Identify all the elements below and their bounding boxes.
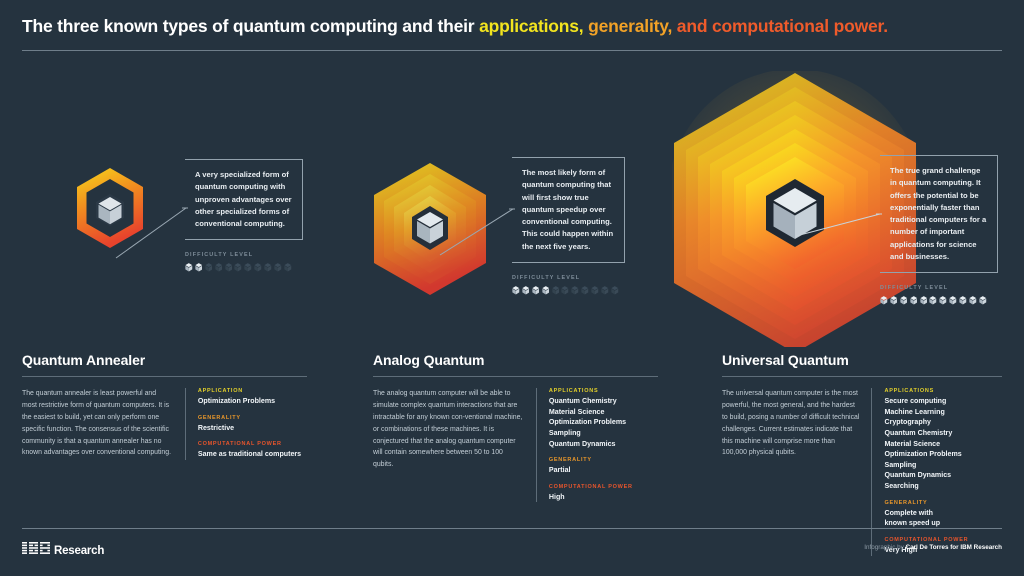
spec-computational-power: COMPUTATIONAL POWERSame as traditional c… <box>198 441 307 460</box>
difficulty-cube-icon <box>195 263 203 272</box>
title-accent-applications: applications, <box>479 16 583 36</box>
spec-value-line: High <box>549 492 658 503</box>
section-description: The quantum annealer is least powerful a… <box>22 388 173 460</box>
footer: Research Infographic by Carl De Torres f… <box>0 528 1024 576</box>
difficulty-cube-icon <box>611 286 619 295</box>
spec-label: APPLICATIONS <box>884 388 1002 394</box>
difficulty-cube-icon <box>601 286 609 295</box>
section-divider <box>722 376 1002 377</box>
difficulty-cube-icon <box>244 263 252 272</box>
credit-line: Infographic by Carl De Torres for IBM Re… <box>864 544 1002 551</box>
spec-label: GENERALITY <box>549 457 658 463</box>
spec-value-line: Optimization Problems <box>549 417 658 428</box>
spec-value: Complete withknown speed up <box>884 508 1002 529</box>
credit-author: Carl De Torres for IBM Research <box>906 544 1002 551</box>
difficulty-cube-icon <box>225 263 233 272</box>
section-analog-quantum: Analog Quantum The analog quantum comput… <box>373 352 658 502</box>
column-divider <box>185 388 186 460</box>
difficulty-label: DIFFICULTY LEVEL <box>185 252 303 258</box>
spec-value-line: Material Science <box>884 439 1002 450</box>
column-divider <box>536 388 537 502</box>
difficulty-cube-icon <box>920 296 928 305</box>
ibm-research-logo: Research <box>22 542 104 557</box>
spec-value-line: Searching <box>884 481 1002 492</box>
difficulty-cube-icon <box>522 286 530 295</box>
callout-universal-quantum: The true grand challenge in quantum comp… <box>880 155 998 305</box>
spec-value-line: Sampling <box>884 460 1002 471</box>
difficulty-cube-icon <box>205 263 213 272</box>
spec-generality: GENERALITYRestrictive <box>198 415 307 434</box>
spec-label: COMPUTATIONAL POWER <box>198 441 307 447</box>
spec-label: COMPUTATIONAL POWER <box>549 484 658 490</box>
difficulty-cube-icon <box>959 296 967 305</box>
spec-value: High <box>549 492 658 503</box>
callout-quantum-annealer: A very specialized form of quantum compu… <box>185 159 303 272</box>
callout-box: The true grand challenge in quantum comp… <box>880 155 998 273</box>
difficulty-cube-icon <box>542 286 550 295</box>
section-title: Quantum Annealer <box>22 352 307 368</box>
difficulty-label: DIFFICULTY LEVEL <box>880 285 998 291</box>
spec-value-line: Same as traditional computers <box>198 449 307 460</box>
difficulty-cube-icon <box>939 296 947 305</box>
difficulty-meter: DIFFICULTY LEVEL <box>880 285 998 305</box>
spec-label: APPLICATION <box>198 388 307 394</box>
section-specs: APPLICATIONSQuantum ChemistryMaterial Sc… <box>549 388 658 502</box>
section-title: Analog Quantum <box>373 352 658 368</box>
callout-box: The most likely form of quantum computin… <box>512 157 625 263</box>
credit-prefix: Infographic by <box>864 544 905 551</box>
spec-value-line: Machine Learning <box>884 407 1002 418</box>
callout-text: A very specialized form of quantum compu… <box>195 169 292 230</box>
section-quantum-annealer: Quantum Annealer The quantum annealer is… <box>22 352 307 460</box>
difficulty-cube-icon <box>254 263 262 272</box>
title-accent-generality: generality, <box>583 16 672 36</box>
spec-value-line: Cryptography <box>884 417 1002 428</box>
spec-value: Same as traditional computers <box>198 449 307 460</box>
spec-value-line: Quantum Chemistry <box>884 428 1002 439</box>
difficulty-cube-icon <box>890 296 898 305</box>
title-accent-power: and computational power. <box>672 16 888 36</box>
header: The three known types of quantum computi… <box>0 0 1024 62</box>
difficulty-cube-icon <box>264 263 272 272</box>
spec-value-line: Optimization Problems <box>198 396 307 407</box>
difficulty-cube-icon <box>215 263 223 272</box>
difficulty-cube-icon <box>234 263 242 272</box>
spec-label: GENERALITY <box>198 415 307 421</box>
spec-value-line: Quantum Dynamics <box>884 470 1002 481</box>
callout-text: The most likely form of quantum computin… <box>522 167 614 253</box>
difficulty-cube-icon <box>910 296 918 305</box>
leader-line-universal <box>796 212 882 236</box>
spec-value-line: Material Science <box>549 407 658 418</box>
section-specs: APPLICATIONOptimization ProblemsGENERALI… <box>198 388 307 460</box>
section-divider <box>373 376 658 377</box>
spec-value: Quantum ChemistryMaterial ScienceOptimiz… <box>549 396 658 449</box>
section-universal-quantum: Universal Quantum The universal quantum … <box>722 352 1002 556</box>
difficulty-cube-icon <box>581 286 589 295</box>
difficulty-label: DIFFICULTY LEVEL <box>512 275 625 281</box>
spec-value-line: Quantum Chemistry <box>549 396 658 407</box>
spec-value-line: Optimization Problems <box>884 449 1002 460</box>
sections-area: Quantum Annealer The quantum annealer is… <box>0 352 1024 522</box>
page-title: The three known types of quantum computi… <box>22 16 888 37</box>
spec-applications: APPLICATIONSSecure computingMachine Lear… <box>884 388 1002 492</box>
difficulty-cube-icon <box>512 286 520 295</box>
spec-generality: GENERALITYComplete withknown speed up <box>884 500 1002 529</box>
spec-value-line: Complete with <box>884 508 1002 519</box>
difficulty-cube-icon <box>979 296 987 305</box>
difficulty-meter: DIFFICULTY LEVEL <box>512 275 625 295</box>
section-description: The analog quantum computer will be able… <box>373 388 524 502</box>
section-divider <box>22 376 307 377</box>
difficulty-cubes <box>185 263 303 272</box>
spec-value: Secure computingMachine LearningCryptogr… <box>884 396 1002 492</box>
callout-box: A very specialized form of quantum compu… <box>185 159 303 240</box>
ibm-logo-icon <box>22 542 50 554</box>
leader-line-analog <box>440 207 515 255</box>
difficulty-cubes <box>512 286 625 295</box>
spec-value-line: Partial <box>549 465 658 476</box>
difficulty-cube-icon <box>900 296 908 305</box>
difficulty-cube-icon <box>532 286 540 295</box>
difficulty-cube-icon <box>561 286 569 295</box>
spec-value-line: Sampling <box>549 428 658 439</box>
spec-value: Optimization Problems <box>198 396 307 407</box>
difficulty-cube-icon <box>929 296 937 305</box>
spec-label: APPLICATIONS <box>549 388 658 394</box>
spec-value: Restrictive <box>198 423 307 434</box>
ibm-research-wordmark: Research <box>54 545 104 557</box>
spec-value-line: Restrictive <box>198 423 307 434</box>
difficulty-cube-icon <box>284 263 292 272</box>
spec-value: Partial <box>549 465 658 476</box>
cube-graphics-area: A very specialized form of quantum compu… <box>0 62 1024 347</box>
callout-text: The true grand challenge in quantum comp… <box>890 165 987 263</box>
spec-generality: GENERALITYPartial <box>549 457 658 476</box>
difficulty-cube-icon <box>571 286 579 295</box>
callout-analog-quantum: The most likely form of quantum computin… <box>512 157 625 295</box>
difficulty-cube-icon <box>949 296 957 305</box>
difficulty-meter: DIFFICULTY LEVEL <box>185 252 303 272</box>
difficulty-cube-icon <box>969 296 977 305</box>
spec-label: GENERALITY <box>884 500 1002 506</box>
section-title: Universal Quantum <box>722 352 1002 368</box>
spec-applications: APPLICATIONSQuantum ChemistryMaterial Sc… <box>549 388 658 449</box>
footer-divider <box>22 528 1002 529</box>
leader-line-annealer <box>116 206 188 258</box>
spec-value-line: Quantum Dynamics <box>549 439 658 450</box>
spec-computational-power: COMPUTATIONAL POWERHigh <box>549 484 658 503</box>
difficulty-cube-icon <box>274 263 282 272</box>
spec-value-line: Secure computing <box>884 396 1002 407</box>
spec-application: APPLICATIONOptimization Problems <box>198 388 307 407</box>
difficulty-cube-icon <box>880 296 888 305</box>
difficulty-cube-icon <box>591 286 599 295</box>
title-plain: The three known types of quantum computi… <box>22 16 479 36</box>
difficulty-cubes <box>880 296 998 305</box>
header-divider <box>22 50 1002 51</box>
difficulty-cube-icon <box>185 263 193 272</box>
difficulty-cube-icon <box>552 286 560 295</box>
